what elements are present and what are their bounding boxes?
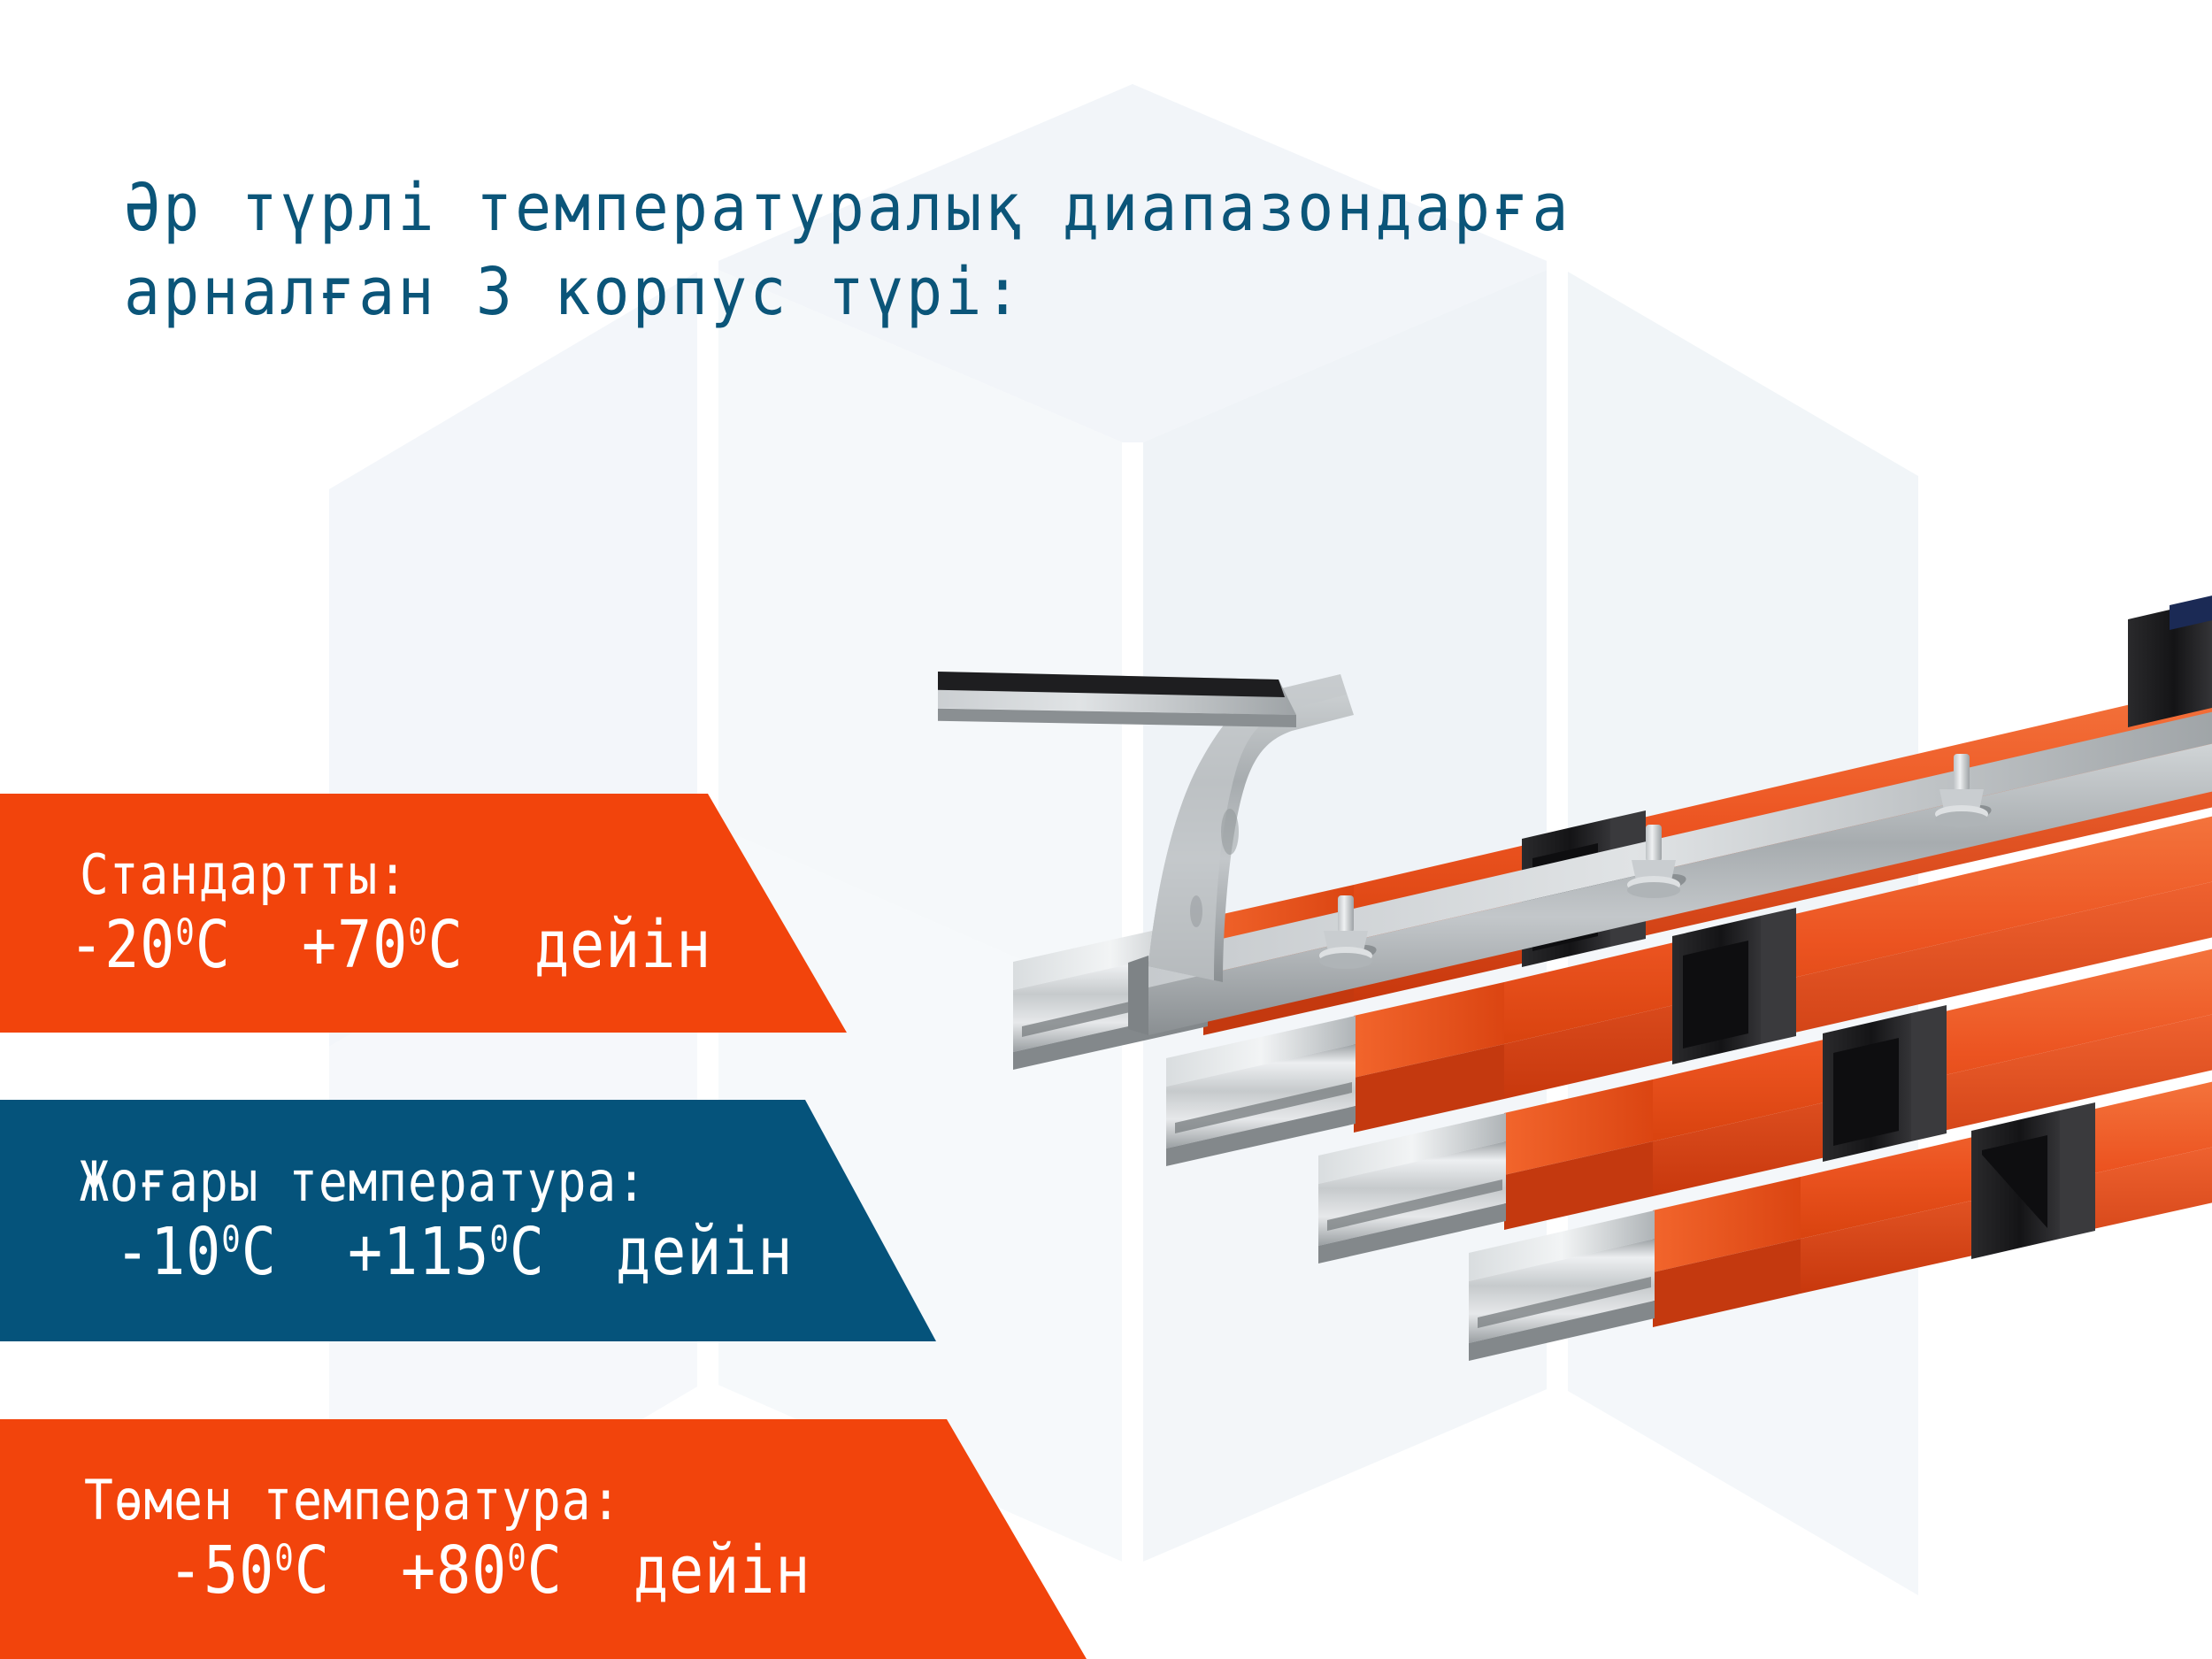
banner-low-range-word: дейін (634, 1532, 810, 1609)
banner-low-range: -500C +800C дейін (168, 1532, 978, 1609)
end-cap-clamp-4 (1971, 1102, 2095, 1259)
banner-standard-range-word: дейін (534, 907, 711, 983)
product-photo-conductor-rail (938, 566, 2212, 1416)
banner-low-label: Төмен температура: (84, 1468, 968, 1532)
banner-standard-scale-min: C (196, 907, 231, 983)
banner-low-temperature: Төмен температура: -500C +800C дейін (0, 1419, 1088, 1659)
banner-high-temperature: Жоғары температура: -100C +1150C дейін (0, 1100, 938, 1341)
banner-standard-scale-max: C (428, 907, 464, 983)
banner-low-degree-max: 0 (507, 1537, 526, 1579)
banner-low-scale-max: C (527, 1532, 563, 1609)
banner-high-range-max: +115 (348, 1214, 489, 1290)
banner-standard-degree-max: 0 (408, 910, 427, 953)
banner-low-range-min: -50 (168, 1532, 274, 1609)
banner-high-degree-max: 0 (489, 1218, 509, 1261)
banner-high-label: Жоғары температура: (80, 1149, 835, 1214)
banner-standard-label: Стандартты: (80, 842, 757, 907)
slide-title: Әр түрлі температуралық диапазондарға ар… (124, 166, 1380, 334)
banner-high-range: -100C +1150C дейін (115, 1214, 839, 1291)
banner-standard-range: -200C +700C дейін (69, 907, 756, 984)
end-cap-clamp-2 (1672, 908, 1796, 1064)
title-line-2: арналған 3 корпус түрі: (124, 250, 1279, 334)
end-cap-clamp-3 (1823, 1005, 1947, 1162)
banner-low-range-max: +80 (401, 1532, 507, 1609)
banner-low-degree-min: 0 (274, 1537, 294, 1579)
banner-standard-degree-min: 0 (175, 910, 195, 953)
end-cap-clamp-far-right (2128, 595, 2212, 727)
banner-standard-range-max: +70 (302, 907, 408, 983)
banner-high-range-min: -10 (115, 1214, 221, 1290)
banner-high-range-word: дейін (616, 1214, 793, 1290)
banner-low-scale-min: C (295, 1532, 330, 1609)
title-line-1: Әр түрлі температуралық диапазондарға (124, 166, 1279, 250)
banner-high-degree-min: 0 (221, 1218, 241, 1261)
slide-canvas: Әр түрлі температуралық диапазондарға ар… (0, 0, 2212, 1659)
banner-standard-range-min: -20 (69, 907, 175, 983)
banner-high-scale-max: C (510, 1214, 545, 1290)
banner-high-scale-min: C (242, 1214, 277, 1290)
banner-standard: Стандартты: -200C +700C дейін (0, 794, 849, 1033)
